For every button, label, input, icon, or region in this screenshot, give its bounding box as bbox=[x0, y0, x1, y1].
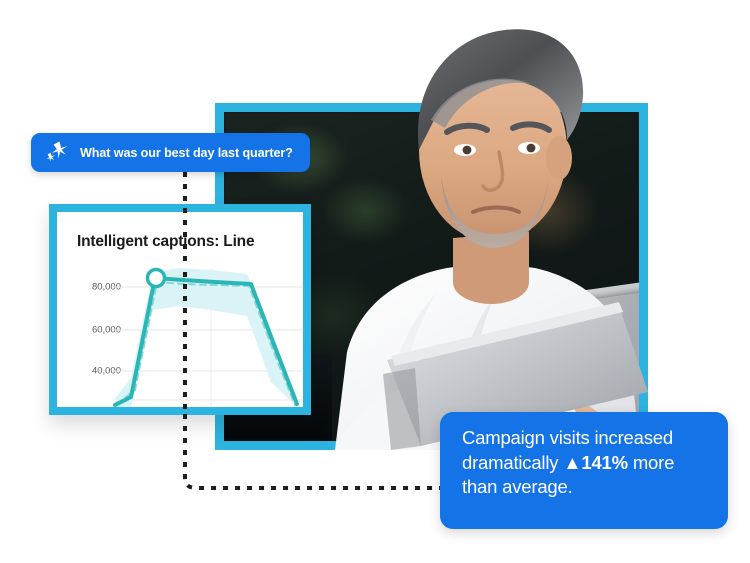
ai-question-text: What was our best day last quarter? bbox=[80, 146, 293, 160]
insight-callout-text: Campaign visits increased dramatically ▲… bbox=[462, 426, 708, 500]
chart-title: Intelligent captions: Line bbox=[77, 233, 254, 251]
chart-plot-area bbox=[57, 258, 303, 407]
ai-question-pill[interactable]: What was our best day last quarter? bbox=[31, 133, 310, 172]
promo-illustration: Intelligent captions: Line 80,000 60,000… bbox=[0, 0, 750, 563]
sparkle-icon bbox=[44, 140, 69, 165]
chart-card-body: Intelligent captions: Line 80,000 60,000… bbox=[57, 212, 303, 407]
chart-card[interactable]: Intelligent captions: Line 80,000 60,000… bbox=[49, 204, 311, 415]
best-day-marker bbox=[148, 270, 165, 287]
insight-callout[interactable]: Campaign visits increased dramatically ▲… bbox=[440, 412, 728, 529]
insight-highlight: ▲141% bbox=[563, 452, 628, 473]
